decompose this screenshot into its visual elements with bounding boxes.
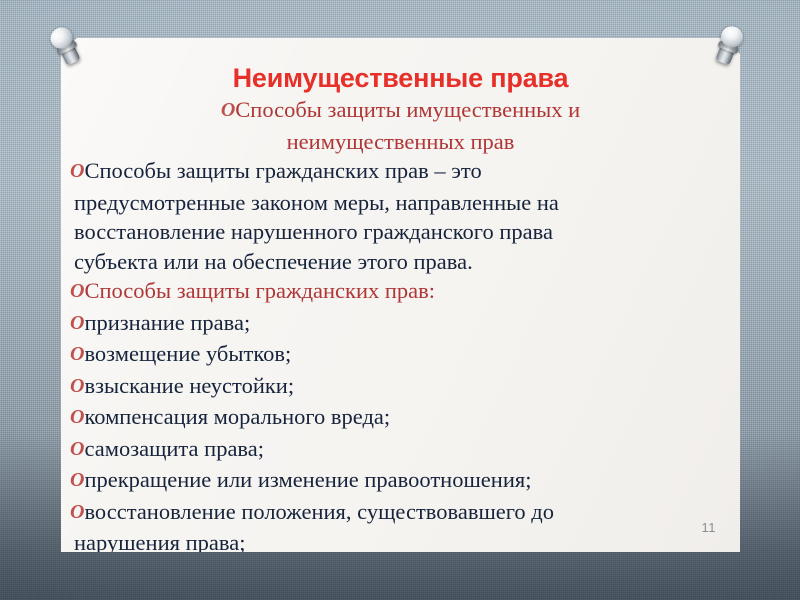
- body-line-text: прекращение или изменение правоотношения…: [84, 467, 531, 492]
- body-line-10: Oпрекращение или изменение правоотношени…: [61, 465, 740, 497]
- subtitle-line-text: Способы защиты имущественных и: [235, 97, 580, 122]
- body-line-text: компенсация морального вреда;: [84, 404, 390, 429]
- body-line-text: нарушения права;: [74, 530, 245, 552]
- body-line-8: Oкомпенсация морального вреда;: [61, 402, 740, 434]
- bullet-oval-icon: O: [70, 340, 84, 370]
- bullet-oval-icon: O: [70, 403, 84, 433]
- bullet-oval-icon: O: [70, 277, 84, 307]
- body-line-7: Oвзыскание неустойки;: [61, 371, 740, 403]
- body-line-6: Oвозмещение убытков;: [61, 339, 740, 371]
- body-line-12: нарушения права;: [61, 528, 740, 552]
- body-line-text: Способы защиты гражданских прав – это: [84, 158, 481, 183]
- bullet-oval-icon: O: [70, 466, 84, 496]
- body-line-1: предусмотренные законом меры, направленн…: [61, 188, 740, 218]
- subtitle-line-text: неимущественных прав: [287, 129, 515, 154]
- paper-card: Неимущественные права OСпособы защиты им…: [61, 38, 740, 552]
- body-line-text: субъекта или на обеспечение этого права.: [74, 249, 473, 274]
- bullet-oval-icon: O: [70, 498, 84, 528]
- slide-content: Неимущественные права OСпособы защиты им…: [61, 38, 740, 552]
- subtitle-line-0: OСпособы защиты имущественных и: [61, 95, 740, 127]
- subtitle-line-1: неимущественных прав: [61, 127, 740, 157]
- body-list: OСпособы защиты гражданских прав – этопр…: [61, 156, 740, 552]
- subtitle-block: OСпособы защиты имущественных инеимущест…: [61, 95, 740, 156]
- body-line-text: самозащита права;: [84, 436, 264, 461]
- bullet-oval-icon: O: [221, 96, 235, 126]
- body-line-text: взыскание неустойки;: [84, 373, 294, 398]
- body-line-5: Oпризнание права;: [61, 308, 740, 340]
- body-line-text: предусмотренные законом меры, направленн…: [74, 190, 559, 215]
- body-line-0: OСпособы защиты гражданских прав – это: [61, 156, 740, 188]
- bullet-oval-icon: O: [70, 372, 84, 402]
- body-line-text: возмещение убытков;: [84, 341, 291, 366]
- body-line-text: восстановление нарушенного гражданского …: [74, 219, 553, 244]
- body-line-text: восстановление положения, существовавшег…: [84, 499, 554, 524]
- page-number: 11: [702, 520, 717, 535]
- bullet-oval-icon: O: [70, 157, 84, 187]
- page-title: Неимущественные права: [61, 38, 740, 95]
- bullet-oval-icon: O: [70, 435, 84, 465]
- body-line-4: OСпособы защиты гражданских прав:: [61, 276, 740, 308]
- body-line-text: Способы защиты гражданских прав:: [84, 278, 435, 303]
- body-line-11: Oвосстановление положения, существовавше…: [61, 497, 740, 529]
- body-line-text: признание права;: [84, 310, 250, 335]
- body-line-3: субъекта или на обеспечение этого права.: [61, 247, 740, 277]
- bullet-oval-icon: O: [70, 309, 84, 339]
- slide-canvas: Неимущественные права OСпособы защиты им…: [0, 0, 800, 600]
- body-line-9: Oсамозащита права;: [61, 434, 740, 466]
- body-line-2: восстановление нарушенного гражданского …: [61, 217, 740, 247]
